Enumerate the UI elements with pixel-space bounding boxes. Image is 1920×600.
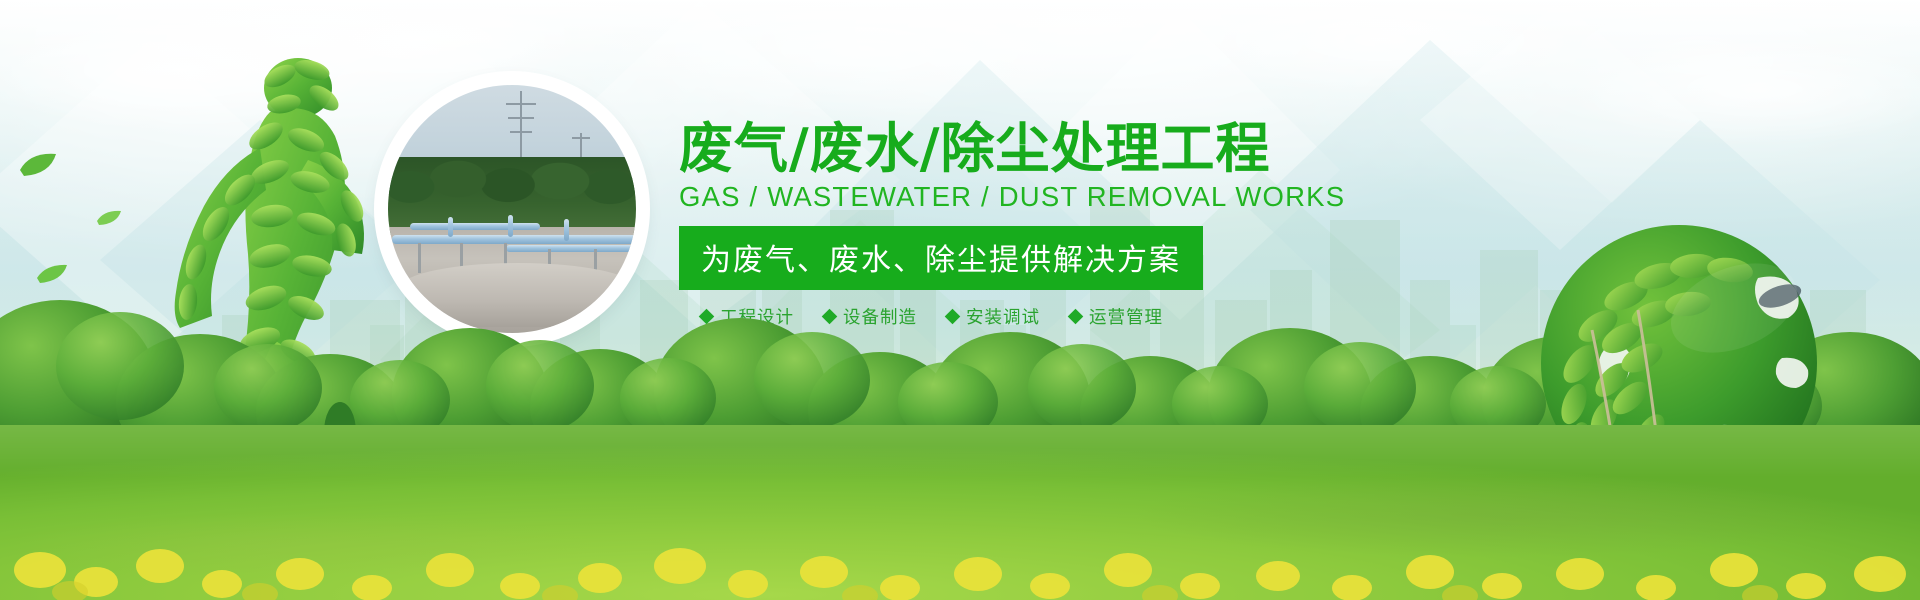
diamond-bullet-icon	[822, 309, 838, 325]
headline-block: 废气/废水/除尘处理工程 GAS / WASTEWATER / DUST REM…	[679, 120, 1299, 329]
page-subtitle: GAS / WASTEWATER / DUST REMOVAL WORKS	[679, 181, 1299, 213]
feature-label: 运营管理	[1089, 304, 1163, 329]
slogan-badge: 为废气、废水、除尘提供解决方案	[679, 226, 1203, 290]
leaf-man-runner	[120, 40, 380, 470]
feature-label: 设备制造	[843, 304, 917, 329]
diamond-bullet-icon	[1068, 309, 1084, 325]
yellow-flower-row	[0, 508, 1920, 600]
feature-item: 设备制造	[824, 304, 917, 329]
green-leaf-globe	[1534, 218, 1824, 508]
floating-leaf-icon	[96, 208, 122, 226]
wastewater-plant-photo	[388, 85, 636, 333]
feature-label: 工程设计	[720, 304, 794, 329]
circular-photo-inset	[381, 78, 643, 340]
feature-list: 工程设计 设备制造 安装调试 运营管理	[679, 304, 1299, 329]
floating-leaf-icon	[18, 150, 58, 178]
floating-leaf-icon	[36, 262, 68, 284]
diamond-bullet-icon	[699, 309, 715, 325]
grass-shading	[0, 425, 1920, 600]
grass-field	[0, 425, 1920, 600]
banner: 废气/废水/除尘处理工程 GAS / WASTEWATER / DUST REM…	[0, 0, 1920, 600]
feature-label: 安装调试	[966, 304, 1040, 329]
page-title: 废气/废水/除尘处理工程	[679, 120, 1299, 177]
feature-item: 运营管理	[1070, 304, 1163, 329]
feature-item: 工程设计	[701, 304, 794, 329]
diamond-bullet-icon	[945, 309, 961, 325]
feature-item: 安装调试	[947, 304, 1040, 329]
